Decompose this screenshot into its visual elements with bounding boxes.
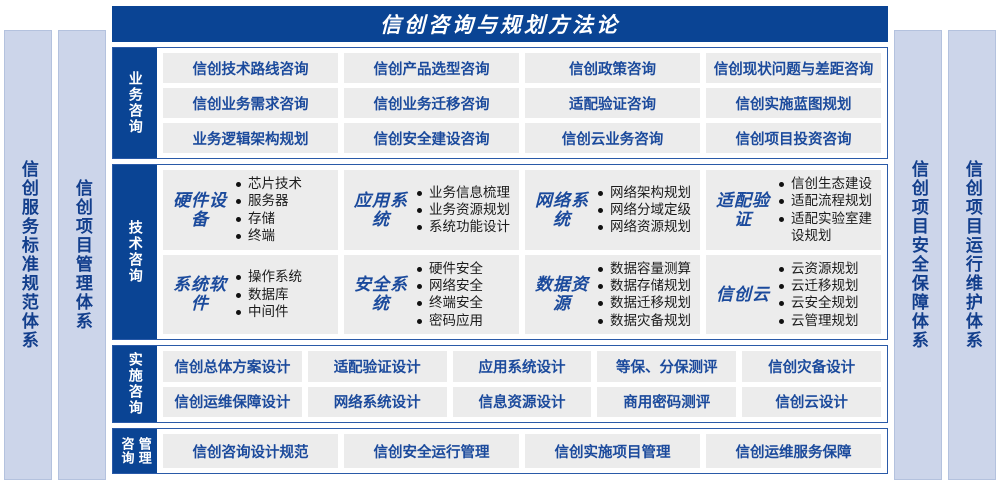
list-item[interactable]: 信创业务需求咨询 — [163, 88, 338, 118]
right-pillar-project-security-label: 信创项目安全保障体系 — [909, 160, 927, 350]
band-business-consulting-body: 信创技术路线咨询 信创产品选型咨询 信创政策咨询 信创现状问题与差距咨询 信创业… — [157, 48, 887, 158]
list-item[interactable]: 应用系统设计 — [453, 351, 592, 382]
list-item[interactable]: 信息资源设计 — [453, 387, 592, 418]
list-item: 云迁移规划 — [778, 277, 875, 294]
card-system-software[interactable]: 系统软件 操作系统 数据库 中间件 — [163, 255, 338, 335]
center-stack: 信创咨询与规划方法论 业务咨询 信创技术路线咨询 信创产品选型咨询 信创政策咨询… — [112, 6, 888, 490]
list-item: 网络资源规划 — [597, 218, 694, 235]
list-item[interactable]: 信创灾备设计 — [742, 351, 881, 382]
list-item: 适配实验室建设规划 — [778, 210, 875, 245]
list-item[interactable]: 信创安全运行管理 — [344, 434, 519, 468]
left-pillar-project-management-label: 信创项目管理体系 — [73, 179, 91, 331]
card-application-system[interactable]: 应用系统 业务信息梳理 业务资源规划 系统功能设计 — [344, 170, 519, 250]
list-item: 系统功能设计 — [416, 218, 513, 235]
list-item[interactable]: 网络系统设计 — [308, 387, 447, 418]
card-title: 适配验证 — [716, 191, 770, 229]
list-item: 终端安全 — [416, 294, 513, 311]
list-item[interactable]: 信创技术路线咨询 — [163, 53, 338, 83]
table-row: 系统软件 操作系统 数据库 中间件 安全系统 硬件安全 网络安全 终端安全 — [163, 255, 881, 335]
list-item: 数据容量测算 — [597, 260, 694, 277]
list-item[interactable]: 信创现状问题与差距咨询 — [706, 53, 881, 83]
card-data-resource[interactable]: 数据资源 数据容量测算 数据存储规划 数据迁移规划 数据灾备规划 — [525, 255, 700, 335]
list-item[interactable]: 信创政策咨询 — [525, 53, 700, 83]
band-implementation-consulting-label: 实施咨询 — [113, 346, 157, 422]
list-item[interactable]: 信创业务迁移咨询 — [344, 88, 519, 118]
card-title: 系统软件 — [173, 275, 227, 313]
list-item[interactable]: 信创实施项目管理 — [525, 434, 700, 468]
left-pillar-project-management: 信创项目管理体系 — [58, 30, 106, 480]
band-technical-consulting: 技术咨询 硬件设备 芯片技术 服务器 存储 终端 应用系统 — [112, 164, 888, 340]
list-item: 云资源规划 — [778, 260, 875, 277]
card-list: 云资源规划 云迁移规划 云安全规划 云管理规划 — [778, 260, 875, 329]
list-item: 数据存储规划 — [597, 277, 694, 294]
list-item[interactable]: 信创总体方案设计 — [163, 351, 302, 382]
list-item: 适配流程规划 — [778, 192, 875, 209]
list-item[interactable]: 信创云设计 — [742, 387, 881, 418]
list-item: 服务器 — [235, 192, 332, 209]
card-xinchuang-cloud[interactable]: 信创云 云资源规划 云迁移规划 云安全规划 云管理规划 — [706, 255, 881, 335]
card-list: 芯片技术 服务器 存储 终端 — [235, 175, 332, 244]
right-pillar-project-security: 信创项目安全保障体系 — [894, 30, 942, 480]
list-item[interactable]: 信创云业务咨询 — [525, 123, 700, 153]
card-list: 业务信息梳理 业务资源规划 系统功能设计 — [416, 184, 513, 236]
card-list: 硬件安全 网络安全 终端安全 密码应用 — [416, 260, 513, 329]
card-adaptation-verification[interactable]: 适配验证 信创生态建设 适配流程规划 适配实验室建设规划 — [706, 170, 881, 250]
list-item: 信创生态建设 — [778, 175, 875, 192]
band-technical-consulting-body: 硬件设备 芯片技术 服务器 存储 终端 应用系统 业务信息梳理 业务资源规划 — [157, 165, 887, 339]
list-item[interactable]: 信创产品选型咨询 — [344, 53, 519, 83]
list-item[interactable]: 信创项目投资咨询 — [706, 123, 881, 153]
list-item: 数据库 — [235, 286, 332, 303]
list-item: 数据迁移规划 — [597, 294, 694, 311]
band-consulting-management: 咨询 管理 信创咨询设计规范 信创安全运行管理 信创实施项目管理 信创运维服务保… — [112, 428, 888, 474]
list-item[interactable]: 信创咨询设计规范 — [163, 434, 338, 468]
table-row: 硬件设备 芯片技术 服务器 存储 终端 应用系统 业务信息梳理 业务资源规划 — [163, 170, 881, 250]
table-row: 信创技术路线咨询 信创产品选型咨询 信创政策咨询 信创现状问题与差距咨询 — [163, 53, 881, 83]
table-row: 信创咨询设计规范 信创安全运行管理 信创实施项目管理 信创运维服务保障 — [163, 434, 881, 468]
band-business-consulting-label-text: 业务咨询 — [127, 71, 142, 135]
band-consulting-management-body: 信创咨询设计规范 信创安全运行管理 信创实施项目管理 信创运维服务保障 — [157, 429, 887, 473]
right-pillar-project-operations-label: 信创项目运行维护体系 — [963, 160, 981, 350]
band-consulting-management-label-col1: 咨询 — [119, 437, 133, 465]
list-item: 存储 — [235, 210, 332, 227]
card-list: 操作系统 数据库 中间件 — [235, 268, 332, 320]
left-pillar-service-standard: 信创服务标准规范体系 — [4, 30, 52, 480]
table-row: 业务逻辑架构规划 信创安全建设咨询 信创云业务咨询 信创项目投资咨询 — [163, 123, 881, 153]
card-network-system[interactable]: 网络系统 网络架构规划 网络分域定级 网络资源规划 — [525, 170, 700, 250]
list-item: 密码应用 — [416, 312, 513, 329]
card-title: 安全系统 — [354, 275, 408, 313]
card-title: 信创云 — [716, 285, 770, 304]
list-item: 中间件 — [235, 303, 332, 320]
list-item: 数据灾备规划 — [597, 312, 694, 329]
card-title: 网络系统 — [535, 191, 589, 229]
band-consulting-management-label-col2: 管理 — [137, 437, 151, 465]
list-item: 网络架构规划 — [597, 184, 694, 201]
left-pillar-service-standard-label: 信创服务标准规范体系 — [19, 160, 37, 350]
band-implementation-consulting-label-text: 实施咨询 — [127, 352, 142, 416]
list-item: 业务信息梳理 — [416, 184, 513, 201]
band-business-consulting-label: 业务咨询 — [113, 48, 157, 158]
band-technical-consulting-label: 技术咨询 — [113, 165, 157, 339]
page-title: 信创咨询与规划方法论 — [112, 6, 888, 42]
list-item[interactable]: 等保、分保测评 — [597, 351, 736, 382]
table-row: 信创业务需求咨询 信创业务迁移咨询 适配验证咨询 信创实施蓝图规划 — [163, 88, 881, 118]
list-item[interactable]: 信创实施蓝图规划 — [706, 88, 881, 118]
list-item: 云管理规划 — [778, 312, 875, 329]
list-item: 芯片技术 — [235, 175, 332, 192]
list-item[interactable]: 信创运维服务保障 — [706, 434, 881, 468]
list-item: 操作系统 — [235, 268, 332, 285]
list-item[interactable]: 信创安全建设咨询 — [344, 123, 519, 153]
card-list: 数据容量测算 数据存储规划 数据迁移规划 数据灾备规划 — [597, 260, 694, 329]
right-pillar-project-operations: 信创项目运行维护体系 — [948, 30, 996, 480]
band-implementation-consulting-body: 信创总体方案设计 适配验证设计 应用系统设计 等保、分保测评 信创灾备设计 信创… — [157, 346, 887, 422]
list-item: 网络分域定级 — [597, 201, 694, 218]
diagram-canvas: 信创服务标准规范体系 信创项目管理体系 信创咨询与规划方法论 业务咨询 信创技术… — [0, 0, 1000, 496]
card-security-system[interactable]: 安全系统 硬件安全 网络安全 终端安全 密码应用 — [344, 255, 519, 335]
table-row: 信创运维保障设计 网络系统设计 信息资源设计 商用密码测评 信创云设计 — [163, 387, 881, 418]
list-item[interactable]: 业务逻辑架构规划 — [163, 123, 338, 153]
list-item[interactable]: 商用密码测评 — [597, 387, 736, 418]
card-list: 网络架构规划 网络分域定级 网络资源规划 — [597, 184, 694, 236]
card-title: 硬件设备 — [173, 191, 227, 229]
band-implementation-consulting: 实施咨询 信创总体方案设计 适配验证设计 应用系统设计 等保、分保测评 信创灾备… — [112, 345, 888, 423]
list-item: 终端 — [235, 227, 332, 244]
card-title: 应用系统 — [354, 191, 408, 229]
card-list: 信创生态建设 适配流程规划 适配实验室建设规划 — [778, 175, 875, 244]
list-item[interactable]: 信创运维保障设计 — [163, 387, 302, 418]
list-item: 云安全规划 — [778, 294, 875, 311]
card-title: 数据资源 — [535, 275, 589, 313]
band-business-consulting: 业务咨询 信创技术路线咨询 信创产品选型咨询 信创政策咨询 信创现状问题与差距咨… — [112, 47, 888, 159]
list-item: 硬件安全 — [416, 260, 513, 277]
card-hardware-device[interactable]: 硬件设备 芯片技术 服务器 存储 终端 — [163, 170, 338, 250]
band-consulting-management-label: 咨询 管理 — [113, 429, 157, 473]
table-row: 信创总体方案设计 适配验证设计 应用系统设计 等保、分保测评 信创灾备设计 — [163, 351, 881, 382]
list-item[interactable]: 适配验证咨询 — [525, 88, 700, 118]
list-item: 网络安全 — [416, 277, 513, 294]
band-technical-consulting-label-text: 技术咨询 — [127, 220, 142, 284]
list-item[interactable]: 适配验证设计 — [308, 351, 447, 382]
list-item: 业务资源规划 — [416, 201, 513, 218]
